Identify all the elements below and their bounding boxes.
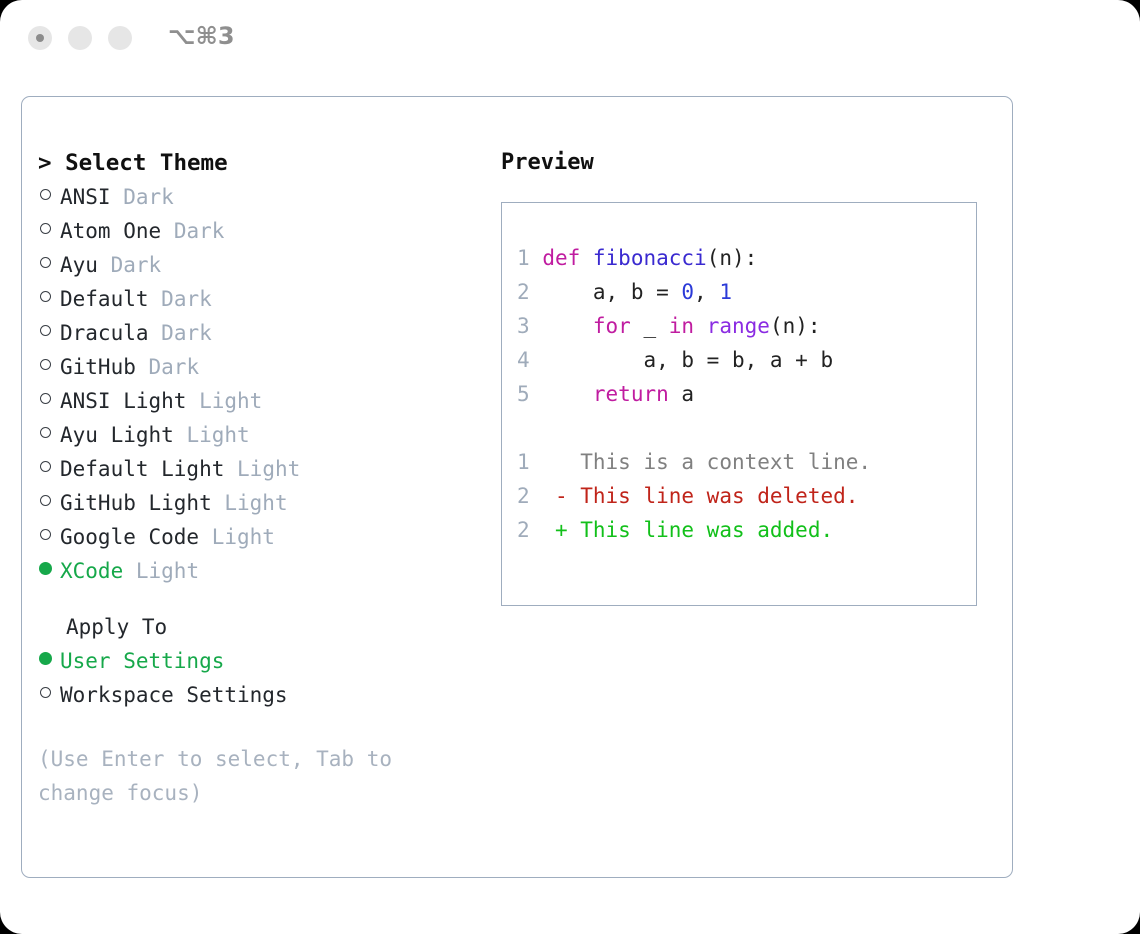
- theme-option-default[interactable]: Default Dark: [38, 282, 498, 316]
- spacer: [38, 588, 498, 610]
- theme-variant-tag: Light: [199, 384, 262, 418]
- spacer: [149, 282, 162, 316]
- code-token: 0: [681, 280, 694, 304]
- radio-unselected-icon: [40, 223, 51, 234]
- diff-line: 1 This is a context line.: [517, 445, 871, 479]
- line-number: 2: [517, 518, 530, 542]
- line-number: 4: [517, 348, 530, 372]
- code-token: a, b = b, a + b: [542, 348, 833, 372]
- theme-name: Atom One: [60, 214, 161, 248]
- theme-name: Dracula: [60, 316, 149, 350]
- title-bar: ⌥⌘3: [0, 0, 1140, 78]
- theme-option-atom-one[interactable]: Atom One Dark: [38, 214, 498, 248]
- theme-variant-tag: Light: [237, 452, 300, 486]
- theme-option-ansi-light[interactable]: ANSI Light Light: [38, 384, 498, 418]
- spacer: [161, 214, 174, 248]
- gutter-space: [530, 382, 543, 406]
- theme-option-github[interactable]: GitHub Dark: [38, 350, 498, 384]
- spacer: [212, 486, 225, 520]
- radio-unselected-icon: [40, 495, 51, 506]
- theme-name: XCode: [60, 554, 123, 588]
- theme-name: GitHub: [60, 350, 136, 384]
- theme-option-default-light[interactable]: Default Light Light: [38, 452, 498, 486]
- code-token: a: [669, 382, 694, 406]
- gutter-space: [530, 450, 555, 474]
- code-token: fibonacci: [593, 246, 707, 270]
- theme-variant-tag: Dark: [123, 180, 174, 214]
- theme-variant-tag: Light: [186, 418, 249, 452]
- line-number: 5: [517, 382, 530, 406]
- gutter-space: [530, 280, 543, 304]
- keyboard-shortcut-label: ⌥⌘3: [168, 22, 235, 50]
- preview-box: 1 def fibonacci(n):2 a, b = 0, 13 for _ …: [501, 202, 977, 606]
- apply-to-option-workspace-settings[interactable]: Workspace Settings: [38, 678, 498, 712]
- traffic-light-active-icon[interactable]: [28, 26, 52, 50]
- theme-option-ansi[interactable]: ANSI Dark: [38, 180, 498, 214]
- radio-unselected-icon: [40, 687, 51, 698]
- spacer: [199, 520, 212, 554]
- diff-line: 2 - This line was deleted.: [517, 479, 871, 513]
- theme-option-xcode[interactable]: XCode Light: [38, 554, 498, 588]
- theme-selection-column: > Select Theme ANSI DarkAtom One DarkAyu…: [38, 146, 498, 810]
- radio-unselected-icon: [40, 359, 51, 370]
- theme-variant-tag: Dark: [161, 282, 212, 316]
- theme-list[interactable]: ANSI DarkAtom One DarkAyu DarkDefault Da…: [38, 180, 498, 588]
- spacer: [123, 554, 136, 588]
- code-preview: 1 def fibonacci(n):2 a, b = 0, 13 for _ …: [517, 241, 871, 547]
- theme-name: Default: [60, 282, 149, 316]
- diff-text: This line was added.: [580, 518, 833, 542]
- radio-unselected-icon: [40, 393, 51, 404]
- code-token: for: [593, 314, 631, 338]
- code-line: 4 a, b = b, a + b: [517, 343, 871, 377]
- radio-unselected-icon: [40, 529, 51, 540]
- theme-option-google-code[interactable]: Google Code Light: [38, 520, 498, 554]
- theme-option-ayu-light[interactable]: Ayu Light Light: [38, 418, 498, 452]
- spacer: [174, 418, 187, 452]
- line-number: 1: [517, 450, 530, 474]
- radio-unselected-icon: [40, 189, 51, 200]
- theme-variant-tag: Dark: [161, 316, 212, 350]
- theme-name: Default Light: [60, 452, 224, 486]
- diff-marker: +: [555, 518, 580, 542]
- line-number: 2: [517, 280, 530, 304]
- theme-name: GitHub Light: [60, 486, 212, 520]
- apply-to-label: Apply To: [38, 610, 498, 644]
- diff-text: This is a context line.: [580, 450, 871, 474]
- spacer: [111, 180, 124, 214]
- apply-to-list[interactable]: User SettingsWorkspace Settings: [38, 644, 498, 712]
- spacer: [149, 316, 162, 350]
- theme-variant-tag: Dark: [111, 248, 162, 282]
- diff-text: This line was deleted.: [580, 484, 858, 508]
- preview-column: Preview 1 def fibonacci(n):2 a, b = 0, 1…: [501, 146, 991, 606]
- theme-name: ANSI: [60, 180, 111, 214]
- code-token: (n):: [770, 314, 821, 338]
- line-number: 1: [517, 246, 530, 270]
- radio-selected-icon: [39, 652, 52, 665]
- theme-variant-tag: Dark: [174, 214, 225, 248]
- gutter-space: [530, 518, 555, 542]
- theme-picker-panel: > Select Theme ANSI DarkAtom One DarkAyu…: [21, 96, 1013, 878]
- code-token: ,: [694, 280, 719, 304]
- blank-line: [517, 411, 871, 445]
- theme-variant-tag: Light: [136, 554, 199, 588]
- spacer: [186, 384, 199, 418]
- theme-name: ANSI Light: [60, 384, 186, 418]
- theme-option-ayu[interactable]: Ayu Dark: [38, 248, 498, 282]
- diff-marker: [555, 450, 580, 474]
- apply-to-option-label: User Settings: [60, 644, 224, 678]
- spacer: [224, 452, 237, 486]
- select-theme-heading: > Select Theme: [38, 146, 498, 180]
- code-token: in: [669, 314, 694, 338]
- code-token: a, b =: [542, 280, 681, 304]
- line-number: 2: [517, 484, 530, 508]
- radio-unselected-icon: [40, 291, 51, 302]
- code-token: _: [631, 314, 669, 338]
- apply-to-option-label: Workspace Settings: [60, 678, 288, 712]
- gutter-space: [530, 246, 543, 270]
- code-token: [694, 314, 707, 338]
- apply-to-option-user-settings[interactable]: User Settings: [38, 644, 498, 678]
- code-token: def: [542, 246, 593, 270]
- theme-variant-tag: Light: [224, 486, 287, 520]
- code-token: [542, 314, 593, 338]
- radio-unselected-icon: [40, 325, 51, 336]
- theme-variant-tag: Light: [212, 520, 275, 554]
- code-line: 3 for _ in range(n):: [517, 309, 871, 343]
- app-window: ⌥⌘3 > Select Theme ANSI DarkAtom One Dar…: [0, 0, 1140, 934]
- theme-name: Google Code: [60, 520, 199, 554]
- line-number: 3: [517, 314, 530, 338]
- code-line: 1 def fibonacci(n):: [517, 241, 871, 275]
- keyboard-hint-text: (Use Enter to select, Tab to change focu…: [38, 742, 448, 810]
- radio-unselected-icon: [40, 427, 51, 438]
- theme-option-dracula[interactable]: Dracula Dark: [38, 316, 498, 350]
- gutter-space: [530, 348, 543, 372]
- code-line: 2 a, b = 0, 1: [517, 275, 871, 309]
- radio-unselected-icon: [40, 461, 51, 472]
- diff-marker: -: [555, 484, 580, 508]
- code-token: [542, 382, 593, 406]
- gutter-space: [530, 314, 543, 338]
- radio-selected-icon: [39, 562, 52, 575]
- traffic-light-icon-2[interactable]: [68, 26, 92, 50]
- theme-name: Ayu: [60, 248, 98, 282]
- code-token: 1: [719, 280, 732, 304]
- theme-variant-tag: Dark: [149, 350, 200, 384]
- code-token: range: [707, 314, 770, 338]
- gutter-space: [530, 484, 555, 508]
- code-token: (n):: [707, 246, 758, 270]
- spacer: [98, 248, 111, 282]
- theme-name: Ayu Light: [60, 418, 174, 452]
- theme-option-github-light[interactable]: GitHub Light Light: [38, 486, 498, 520]
- spacer: [136, 350, 149, 384]
- traffic-light-icon-3[interactable]: [108, 26, 132, 50]
- preview-title: Preview: [501, 146, 991, 180]
- diff-line: 2 + This line was added.: [517, 513, 871, 547]
- code-token: return: [593, 382, 669, 406]
- code-line: 5 return a: [517, 377, 871, 411]
- radio-unselected-icon: [40, 257, 51, 268]
